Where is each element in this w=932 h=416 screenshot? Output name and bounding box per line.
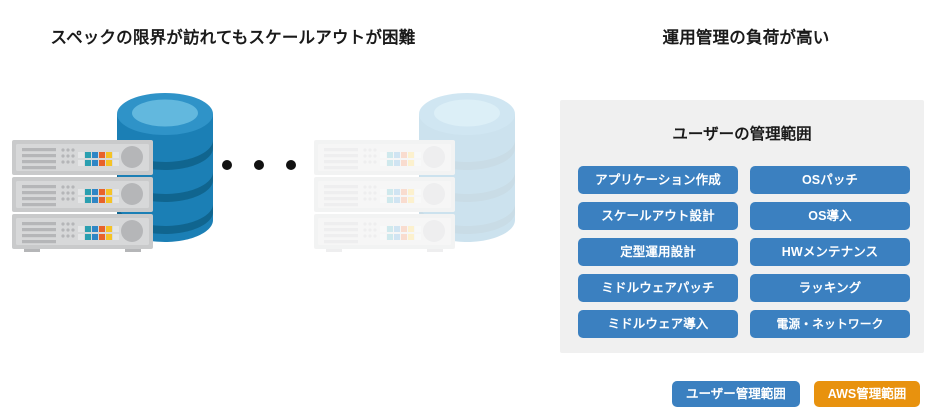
scope-button-routine-ops-design[interactable]: 定型運用設計 — [578, 238, 738, 266]
ellipsis-dot — [254, 160, 264, 170]
ellipsis-dot — [286, 160, 296, 170]
scope-button-os-install[interactable]: OS導入 — [750, 202, 910, 230]
user-scope-panel: ユーザーの管理範囲 アプリケーション作成 OSパッチ スケールアウト設計 OS導… — [560, 100, 924, 353]
scope-button-scale-out-design[interactable]: スケールアウト設計 — [578, 202, 738, 230]
server-database-group — [10, 92, 220, 262]
right-section-title: 運用管理の負荷が高い — [560, 24, 932, 48]
scope-button-grid: アプリケーション作成 OSパッチ スケールアウト設計 OS導入 定型運用設計 H… — [578, 166, 910, 338]
server-rack-icon — [10, 140, 155, 252]
ellipsis-dot — [222, 160, 232, 170]
server-database-illustration-faded — [312, 92, 522, 262]
legend-aws-scope[interactable]: AWS管理範囲 — [814, 381, 920, 407]
scope-button-application-development[interactable]: アプリケーション作成 — [578, 166, 738, 194]
scope-button-hw-maintenance[interactable]: HWメンテナンス — [750, 238, 910, 266]
scope-button-middleware-install[interactable]: ミドルウェア導入 — [578, 310, 738, 338]
server-rack-icon-faded — [312, 140, 457, 252]
scope-button-power-network[interactable]: 電源・ネットワーク — [750, 310, 910, 338]
scope-panel-heading: ユーザーの管理範囲 — [560, 122, 924, 144]
server-database-group-faded — [312, 92, 522, 262]
scope-button-os-patch[interactable]: OSパッチ — [750, 166, 910, 194]
legend: ユーザー管理範囲 AWS管理範囲 — [672, 381, 920, 407]
slide-canvas: スペックの限界が訪れてもスケールアウトが困難 運用管理の負荷が高い — [0, 0, 932, 416]
scope-button-racking[interactable]: ラッキング — [750, 274, 910, 302]
left-section-title: スペックの限界が訪れてもスケールアウトが困難 — [0, 24, 466, 48]
ellipsis-dots — [222, 160, 302, 174]
legend-user-scope[interactable]: ユーザー管理範囲 — [672, 381, 800, 407]
server-database-illustration-solid — [10, 92, 220, 262]
scope-button-middleware-patch[interactable]: ミドルウェアパッチ — [578, 274, 738, 302]
